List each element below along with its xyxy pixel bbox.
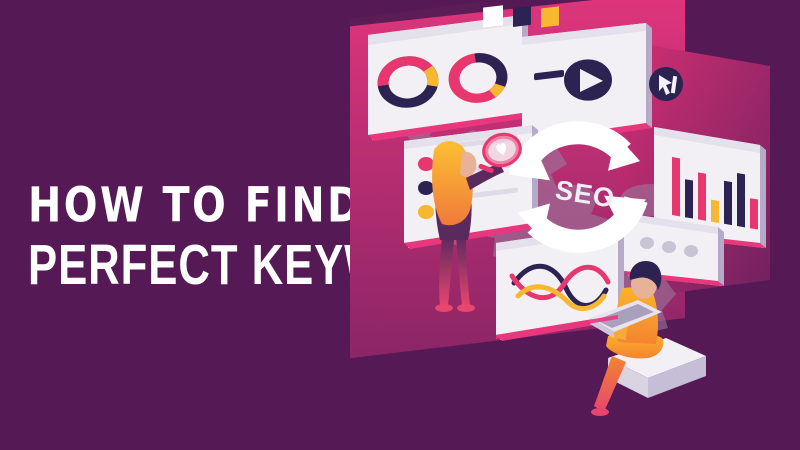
cursor-badge[interactable] [649,67,683,101]
play-button-icon[interactable] [564,59,612,100]
illustration-container: SEO [350,0,800,450]
seo-banner: HOW TO FIND THE PERFECT KEYWORD [0,0,800,450]
headline-line-1: HOW TO FIND THE [28,178,377,232]
headline-block: HOW TO FIND THE PERFECT KEYWORD [28,178,388,285]
headline-line-2: PERFECT KEYWORD [28,235,363,295]
